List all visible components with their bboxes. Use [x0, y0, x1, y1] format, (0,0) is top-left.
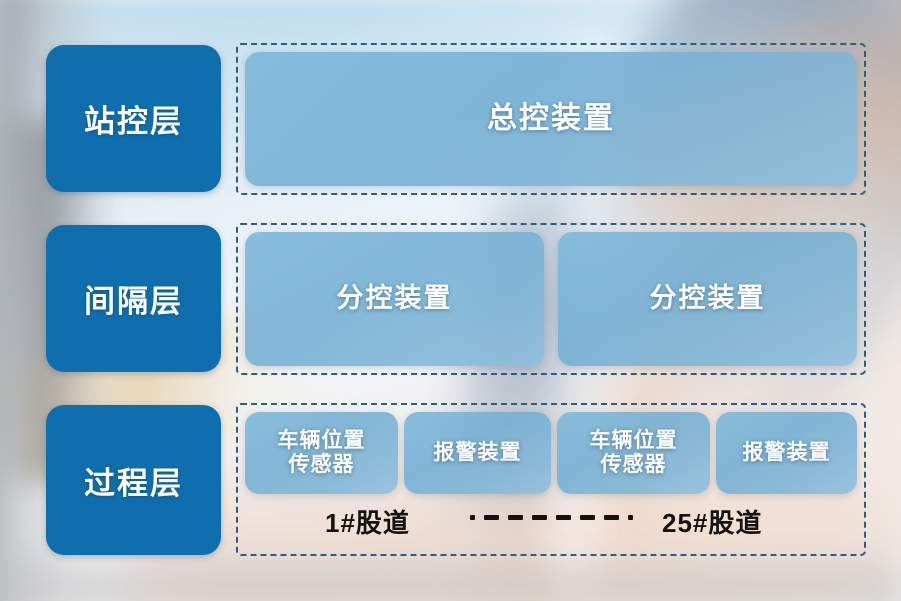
device-vehicle-position-sensor-1-label-line2: 传感器 [289, 453, 355, 476]
track-label-first: 1#股道 [325, 503, 410, 540]
track-dash-3 [532, 515, 547, 520]
device-sub-control-2[interactable]: 分控装置 [558, 232, 857, 366]
track-label-last: 25#股道 [662, 503, 762, 540]
layer-chip-station-control-label: 站控层 [84, 96, 183, 141]
track-dash-1 [484, 515, 499, 520]
device-sub-control-2-label: 分控装置 [650, 283, 766, 314]
track-dash-6 [604, 515, 619, 520]
device-alarm-1-label: 报警装置 [434, 441, 522, 465]
device-sub-control-1-label: 分控装置 [337, 283, 453, 314]
device-vehicle-position-sensor-2-label-line1: 车辆位置 [590, 429, 678, 452]
device-master-control[interactable]: 总控装置 [245, 52, 857, 186]
diagram-canvas: 站控层 总控装置 间隔层 分控装置 分控装置 过程层 车辆位置传感器 报警装置 [0, 0, 901, 601]
track-dash-2 [508, 515, 523, 520]
track-dash-dot-end [628, 515, 633, 520]
track-dash-5 [580, 515, 595, 520]
layer-chip-process[interactable]: 过程层 [46, 405, 221, 555]
track-dash-4 [556, 515, 571, 520]
device-master-control-label: 总控装置 [487, 102, 615, 137]
track-dash-dot-start [470, 515, 475, 520]
device-sub-control-1[interactable]: 分控装置 [245, 232, 544, 366]
device-vehicle-position-sensor-2-label-line2: 传感器 [601, 453, 667, 476]
device-alarm-2[interactable]: 报警装置 [716, 412, 857, 494]
layer-chip-bay-label: 间隔层 [84, 276, 183, 321]
device-alarm-2-label: 报警装置 [743, 441, 831, 465]
device-vehicle-position-sensor-1[interactable]: 车辆位置传感器 [245, 412, 398, 494]
device-vehicle-position-sensor-1-label-line1: 车辆位置 [278, 429, 366, 452]
device-vehicle-position-sensor-2[interactable]: 车辆位置传感器 [557, 412, 710, 494]
layer-chip-station-control[interactable]: 站控层 [46, 45, 221, 192]
device-alarm-1[interactable]: 报警装置 [404, 412, 551, 494]
track-separator-dashes [470, 515, 633, 520]
layer-chip-bay[interactable]: 间隔层 [46, 225, 221, 372]
layer-chip-process-label: 过程层 [84, 458, 183, 503]
